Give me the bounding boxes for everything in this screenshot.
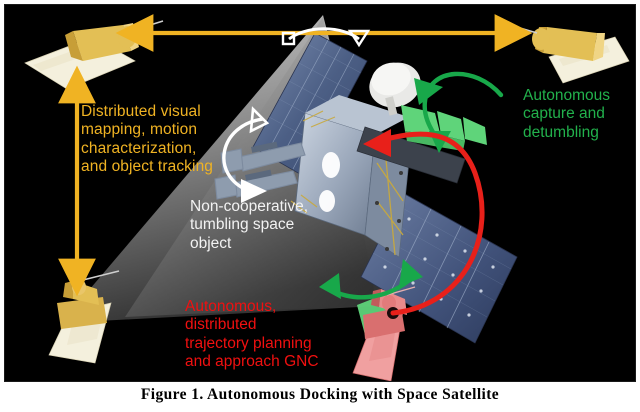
figure-image-panel: Distributed visual mapping, motion chara… xyxy=(4,4,636,382)
figure-caption: Figure 1. Autonomous Docking with Space … xyxy=(0,386,640,412)
trajectory-planning-label: Autonomous, distributed trajectory plann… xyxy=(185,298,400,371)
distributed-visual-mapping-label: Distributed visual mapping, motion chara… xyxy=(81,103,271,176)
non-cooperative-object-label: Non-cooperative, tumbling space object xyxy=(190,198,350,253)
autonomous-capture-label: Autonomous capture and detumbling xyxy=(523,87,636,142)
figure-container: Distributed visual mapping, motion chara… xyxy=(0,0,640,412)
figure-caption-text: Figure 1. Autonomous Docking with Space … xyxy=(141,386,499,404)
